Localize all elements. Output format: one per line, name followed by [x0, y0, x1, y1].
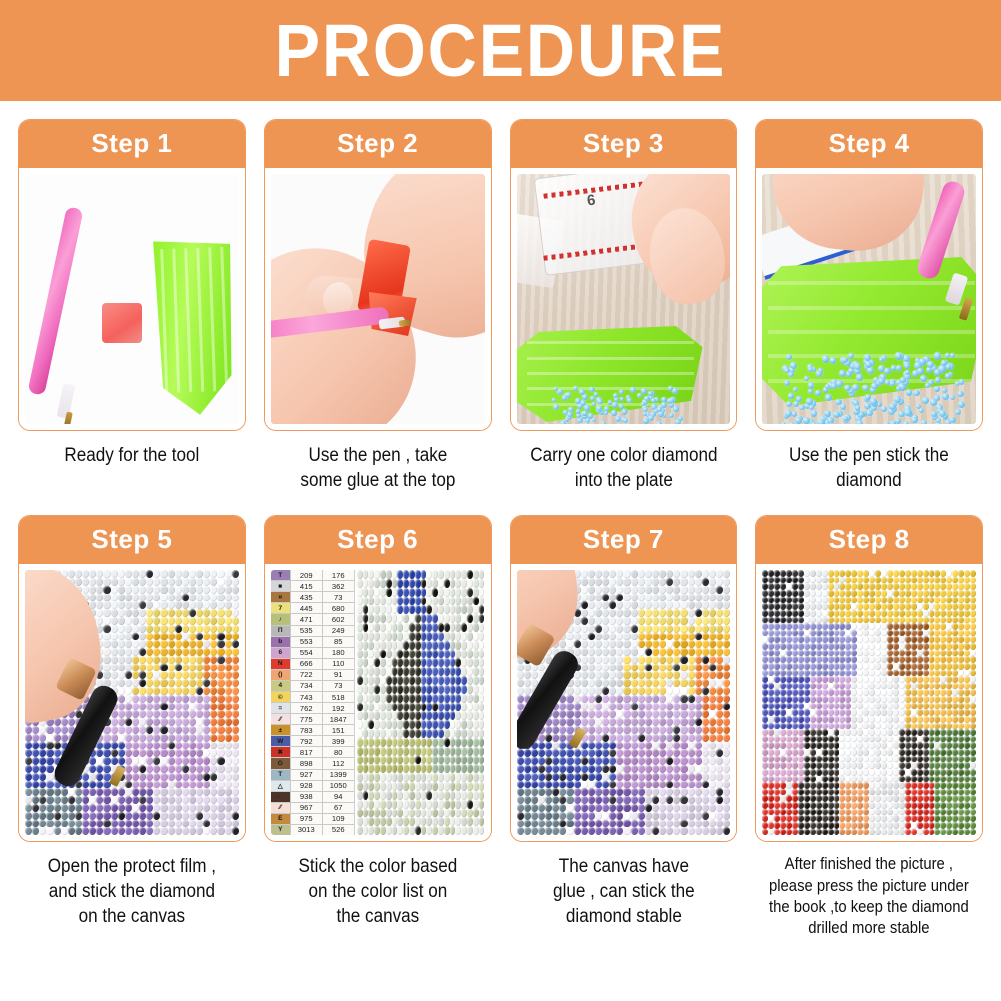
color-chart-row: Y3013526	[271, 825, 354, 835]
pink-pen-icon	[27, 206, 83, 395]
color-chart-row: N666110	[271, 659, 354, 670]
color-chart-row: T209176	[271, 570, 354, 581]
color-chart-row: b55385	[271, 637, 354, 648]
color-count-cell: 518	[323, 692, 354, 702]
color-chart-row: Π535249	[271, 626, 354, 637]
color-swatch-symbol: 4	[271, 681, 291, 691]
step-4-photo	[762, 174, 976, 424]
color-count-cell: 67	[323, 803, 354, 813]
color-swatch-symbol: ⁄⁄	[271, 714, 291, 724]
color-swatch-symbol: △	[271, 781, 291, 791]
color-chart-row: E975109	[271, 814, 354, 825]
color-code-cell: 554	[291, 648, 323, 658]
color-count-cell: 80	[323, 747, 354, 757]
color-chart-table: T209176■415362¤435737445680♪471602Π53524…	[271, 570, 355, 835]
step-5-caption: Open the protect film , and stick the di…	[29, 854, 234, 929]
color-chart-row: ✖81780	[271, 747, 354, 758]
color-swatch-symbol: =	[271, 703, 291, 713]
color-chart-row: 6554180	[271, 648, 354, 659]
green-tray-icon	[150, 239, 236, 417]
step-3-caption: Carry one color diamond into the plate	[521, 443, 726, 493]
step-5-photo	[25, 570, 239, 835]
color-count-cell: 112	[323, 758, 354, 768]
diamond-beads-in-tray	[780, 352, 960, 424]
color-code-cell: 666	[291, 659, 323, 669]
color-swatch-symbol: T	[271, 770, 291, 780]
steps-row-bottom: Step 5 Open the protect film , and stick…	[18, 515, 983, 940]
color-code-cell: 817	[291, 747, 323, 757]
color-chart-row: ©743518	[271, 692, 354, 703]
step-2-photo	[271, 174, 485, 424]
color-chart-row: W792399	[271, 736, 354, 747]
color-count-cell: 192	[323, 703, 354, 713]
color-swatch-symbol: W	[271, 736, 291, 746]
color-count-cell: 680	[323, 603, 354, 613]
step-3-label: Step 3	[511, 120, 737, 168]
color-chart-row: ±783151	[271, 725, 354, 736]
color-code-cell: 938	[291, 792, 323, 802]
color-swatch-symbol: b	[271, 637, 291, 647]
step-card-1[interactable]: Step 1 Ready for the tool	[18, 119, 246, 493]
color-count-cell: 602	[323, 614, 354, 624]
color-code-cell: 775	[291, 714, 323, 724]
color-code-cell: 722	[291, 670, 323, 680]
step-1-label: Step 1	[19, 120, 245, 168]
color-swatch-symbol: ⁄⁄	[271, 803, 291, 813]
bag-number-label: 6	[585, 192, 595, 210]
color-code-cell: 553	[291, 637, 323, 647]
step-7-label: Step 7	[511, 516, 737, 564]
color-chart-row: △9281050	[271, 781, 354, 792]
step-8-caption: After finished the picture , please pres…	[767, 854, 972, 940]
steps-grid: Step 1 Ready for the tool Step 2	[0, 119, 1001, 940]
step-card-2[interactable]: Step 2 Use the pen , take some	[264, 119, 492, 493]
step-6-label: Step 6	[265, 516, 491, 564]
color-swatch-symbol: E	[271, 814, 291, 824]
color-swatch-symbol: Y	[271, 825, 291, 835]
step-card-6[interactable]: Step 6 T209176■415362¤435737445680♪47160…	[264, 515, 492, 940]
diamond-canvas-mosaic	[357, 570, 485, 835]
step-8-photo	[762, 570, 976, 835]
color-count-cell: 526	[323, 825, 354, 835]
color-count-cell: 399	[323, 736, 354, 746]
color-code-cell: 3013	[291, 825, 323, 835]
step-card-7[interactable]: Step 7 The canvas have glue , can stick …	[510, 515, 738, 940]
color-code-cell: 927	[291, 770, 323, 780]
color-chart-row: ¤43573	[271, 592, 354, 603]
step-7-photo	[517, 570, 731, 835]
steps-row-top: Step 1 Ready for the tool Step 2	[18, 119, 983, 493]
step-8-label: Step 8	[756, 516, 982, 564]
step-1-photo	[25, 174, 239, 424]
step-2-label: Step 2	[265, 120, 491, 168]
color-code-cell: 445	[291, 603, 323, 613]
color-code-cell: 975	[291, 814, 323, 824]
color-count-cell: 91	[323, 670, 354, 680]
color-count-cell: 1399	[323, 770, 354, 780]
step-2-caption: Use the pen , take some glue at the top	[275, 443, 480, 493]
color-code-cell: 209	[291, 570, 323, 580]
color-chart-row: ⁄⁄96767	[271, 803, 354, 814]
color-code-cell: 967	[291, 803, 323, 813]
step-card-8[interactable]: Step 8 After finished the picture , plea…	[755, 515, 983, 940]
color-code-cell: 792	[291, 736, 323, 746]
color-count-cell: 362	[323, 581, 354, 591]
step-1-caption: Ready for the tool	[29, 443, 234, 468]
step-5-label: Step 5	[19, 516, 245, 564]
color-swatch-symbol: T	[271, 570, 291, 580]
color-count-cell: 110	[323, 659, 354, 669]
color-count-cell: 249	[323, 626, 354, 636]
color-chart-row: =762192	[271, 703, 354, 714]
color-chart-row: ⁄⁄7751847	[271, 714, 354, 725]
color-count-cell: 109	[323, 814, 354, 824]
step-3-photo: 6	[517, 174, 731, 424]
page-title: PROCEDURE	[275, 14, 727, 88]
color-code-cell: 471	[291, 614, 323, 624]
step-6-photo: T209176■415362¤435737445680♪471602Π53524…	[271, 570, 485, 835]
diamond-canvas-area	[357, 570, 485, 835]
color-swatch-symbol: ■	[271, 581, 291, 591]
color-swatch-symbol: N	[271, 659, 291, 669]
color-swatch-symbol: G	[271, 758, 291, 768]
color-count-cell: 180	[323, 648, 354, 658]
color-swatch-symbol: Π	[271, 626, 291, 636]
color-count-cell: 176	[323, 570, 354, 580]
color-chart-row: ♪471602	[271, 614, 354, 625]
color-swatch-symbol: ✖	[271, 747, 291, 757]
step-7-caption: The canvas have glue , can stick the dia…	[521, 854, 726, 929]
color-chart-row: ♩93894	[271, 792, 354, 803]
color-code-cell: 435	[291, 592, 323, 602]
color-swatch-symbol: 6	[271, 648, 291, 658]
color-count-cell: 151	[323, 725, 354, 735]
wax-square-icon	[102, 303, 142, 343]
color-code-cell: 535	[291, 626, 323, 636]
step-6-caption: Stick the color based on the color list …	[275, 854, 480, 929]
color-count-cell: 1050	[323, 781, 354, 791]
color-code-cell: 415	[291, 581, 323, 591]
color-code-cell: 783	[291, 725, 323, 735]
color-swatch-symbol: ♩	[271, 792, 291, 802]
color-code-cell: 734	[291, 681, 323, 691]
diamond-canvas-mosaic	[762, 570, 976, 835]
color-count-cell: 1847	[323, 714, 354, 724]
color-chart-row: ■415362	[271, 581, 354, 592]
color-code-cell: 762	[291, 703, 323, 713]
color-count-cell: 73	[323, 592, 354, 602]
step-4-caption: Use the pen stick the diamond	[767, 443, 972, 493]
color-code-cell: 743	[291, 692, 323, 702]
color-swatch-symbol: 7	[271, 603, 291, 613]
diamond-beads-in-tray	[551, 386, 679, 424]
color-chart-row: 473473	[271, 681, 354, 692]
color-count-cell: 94	[323, 792, 354, 802]
color-code-cell: 928	[291, 781, 323, 791]
color-chart-row: G898112	[271, 758, 354, 769]
color-chart-row: 7445680	[271, 603, 354, 614]
color-count-cell: 85	[323, 637, 354, 647]
color-code-cell: 898	[291, 758, 323, 768]
color-count-cell: 73	[323, 681, 354, 691]
page-header: PROCEDURE	[0, 0, 1001, 101]
color-swatch-symbol: ♪	[271, 614, 291, 624]
color-chart-row: ()72291	[271, 670, 354, 681]
step-4-label: Step 4	[756, 120, 982, 168]
step-card-5[interactable]: Step 5 Open the protect film , and stick…	[18, 515, 246, 940]
color-chart-row: T9271399	[271, 770, 354, 781]
color-swatch-symbol: ()	[271, 670, 291, 680]
step-card-4[interactable]: Step 4 Use the pen stick the diamond	[755, 119, 983, 493]
color-swatch-symbol: ¤	[271, 592, 291, 602]
color-swatch-symbol: ±	[271, 725, 291, 735]
step-card-3[interactable]: Step 3 6 Carry one	[510, 119, 738, 493]
color-swatch-symbol: ©	[271, 692, 291, 702]
